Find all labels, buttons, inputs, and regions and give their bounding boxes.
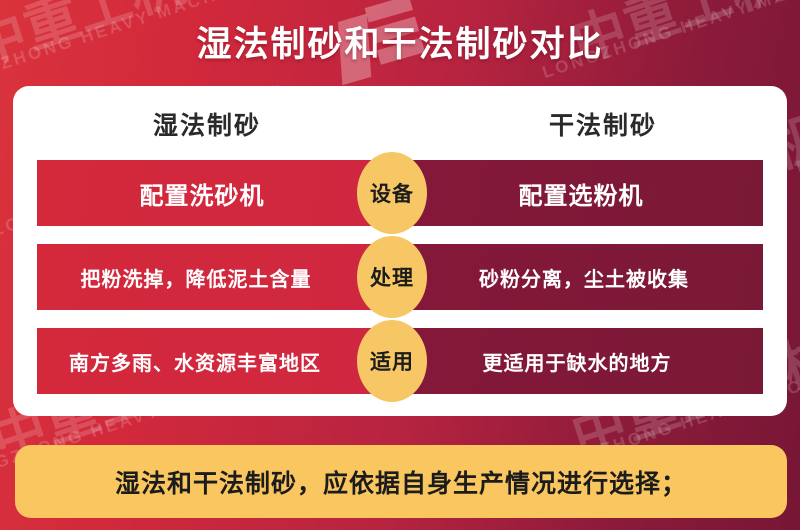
footer-text: 湿法和干法制砂，应依据自身生产情况进行选择； <box>115 464 687 500</box>
column-header-wet: 湿法制砂 <box>37 106 377 142</box>
comparison-header-row: 湿法制砂 干法制砂 <box>13 86 787 160</box>
row-category-badge: 设备 <box>357 152 427 234</box>
row-category-badge: 适用 <box>357 320 427 402</box>
row-right-value: 配置选粉机 <box>381 160 763 226</box>
row-right-value: 更适用于缺水的地方 <box>381 328 763 394</box>
table-row: 南方多雨、水资源丰富地区 更适用于缺水的地方 适用 <box>37 328 763 394</box>
row-left-value: 配置洗砂机 <box>37 160 381 226</box>
page-title: 湿法制砂和干法制砂对比 <box>0 16 800 67</box>
infographic-poster: 中重工机械 LONGZHONG HEAVY MACHINERY 中重工机械 LO… <box>0 0 800 530</box>
row-left-value: 把粉洗掉，降低泥土含量 <box>37 244 381 310</box>
comparison-rows: 配置洗砂机 配置选粉机 设备 把粉洗掉，降低泥土含量 砂粉分离，尘土被收集 处理… <box>13 160 787 412</box>
row-category-badge: 处理 <box>357 236 427 318</box>
row-right-value: 砂粉分离，尘土被收集 <box>381 244 763 310</box>
comparison-card: 湿法制砂 干法制砂 配置洗砂机 配置选粉机 设备 把粉洗掉，降低泥土含量 砂粉分… <box>13 86 787 416</box>
row-left-value: 南方多雨、水资源丰富地区 <box>37 328 381 394</box>
column-header-dry: 干法制砂 <box>433 106 773 142</box>
table-row: 把粉洗掉，降低泥土含量 砂粉分离，尘土被收集 处理 <box>37 244 763 310</box>
table-row: 配置洗砂机 配置选粉机 设备 <box>37 160 763 226</box>
footer-banner: 湿法和干法制砂，应依据自身生产情况进行选择； <box>15 445 787 518</box>
